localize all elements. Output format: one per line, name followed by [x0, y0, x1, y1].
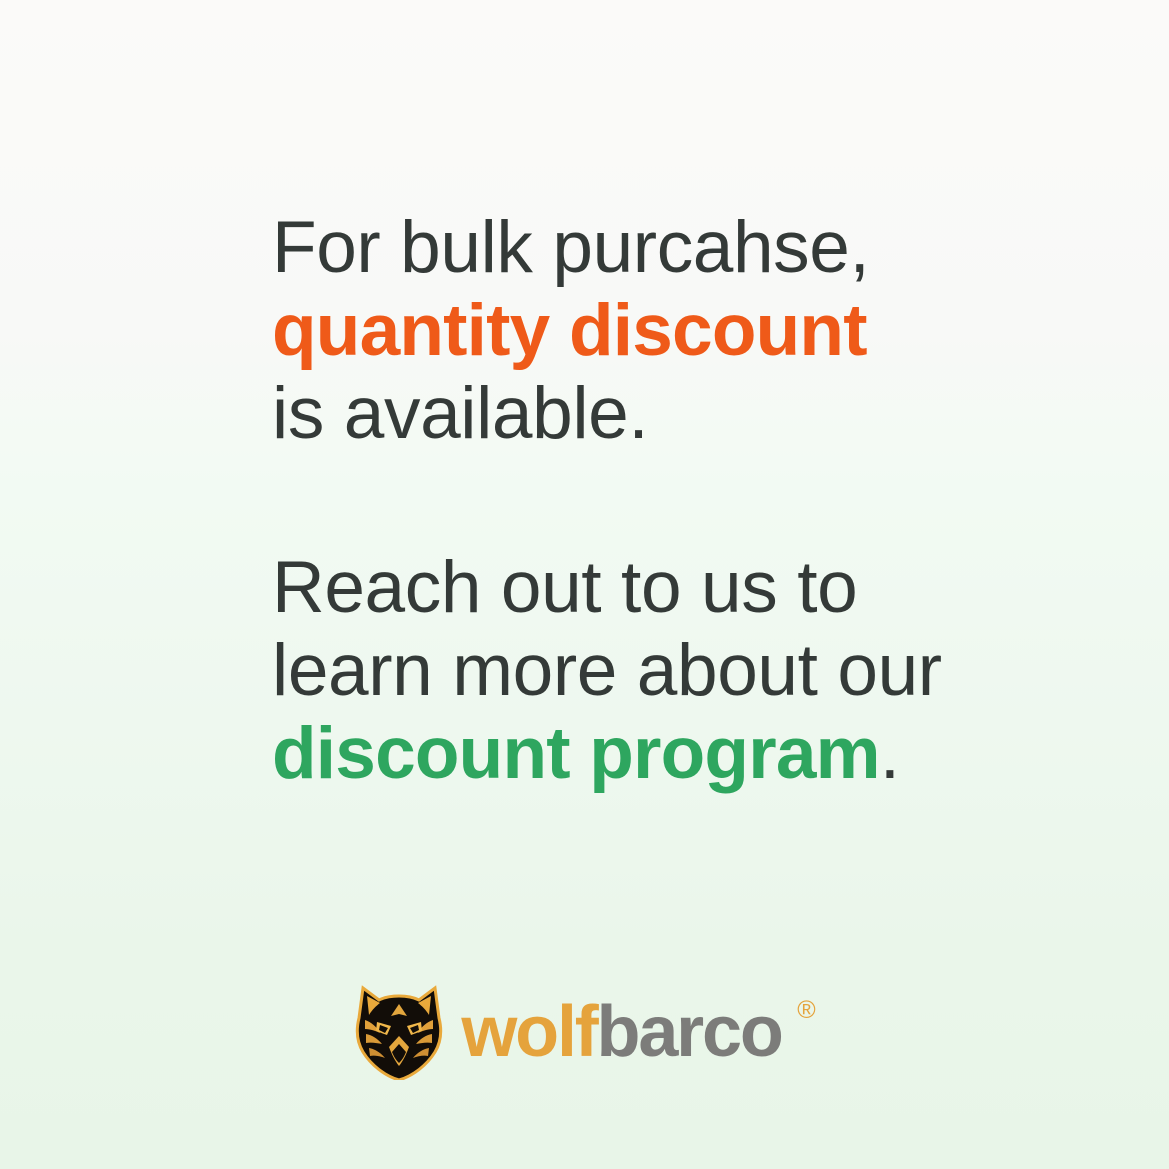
- message-block: For bulk purcahse, quantity discount is …: [272, 206, 972, 795]
- wolf-head-icon: [353, 984, 445, 1080]
- promo-card: For bulk purcahse, quantity discount is …: [0, 0, 1169, 1169]
- paragraph-lead-text: For bulk purcahse,: [272, 207, 869, 288]
- registered-trademark-symbol: ®: [797, 998, 815, 1023]
- highlight-discount-program: discount program: [272, 713, 880, 794]
- wordmark-primary: wolf: [461, 992, 596, 1072]
- paragraph-trail-text: is available.: [272, 373, 648, 454]
- paragraph-trail-text: .: [880, 713, 900, 794]
- brand-lockup: wolfbarco®: [0, 984, 1169, 1080]
- paragraph-bulk-purchase-offer: For bulk purcahse, quantity discount is …: [272, 206, 972, 455]
- paragraph-contact-invitation: Reach out to us to learn more about our …: [272, 546, 972, 795]
- paragraph-lead-text: Reach out to us to learn more about our: [272, 547, 942, 711]
- wordmark-secondary: barco: [597, 992, 782, 1072]
- brand-wordmark: wolfbarco®: [461, 996, 815, 1068]
- highlight-quantity-discount: quantity discount: [272, 290, 867, 371]
